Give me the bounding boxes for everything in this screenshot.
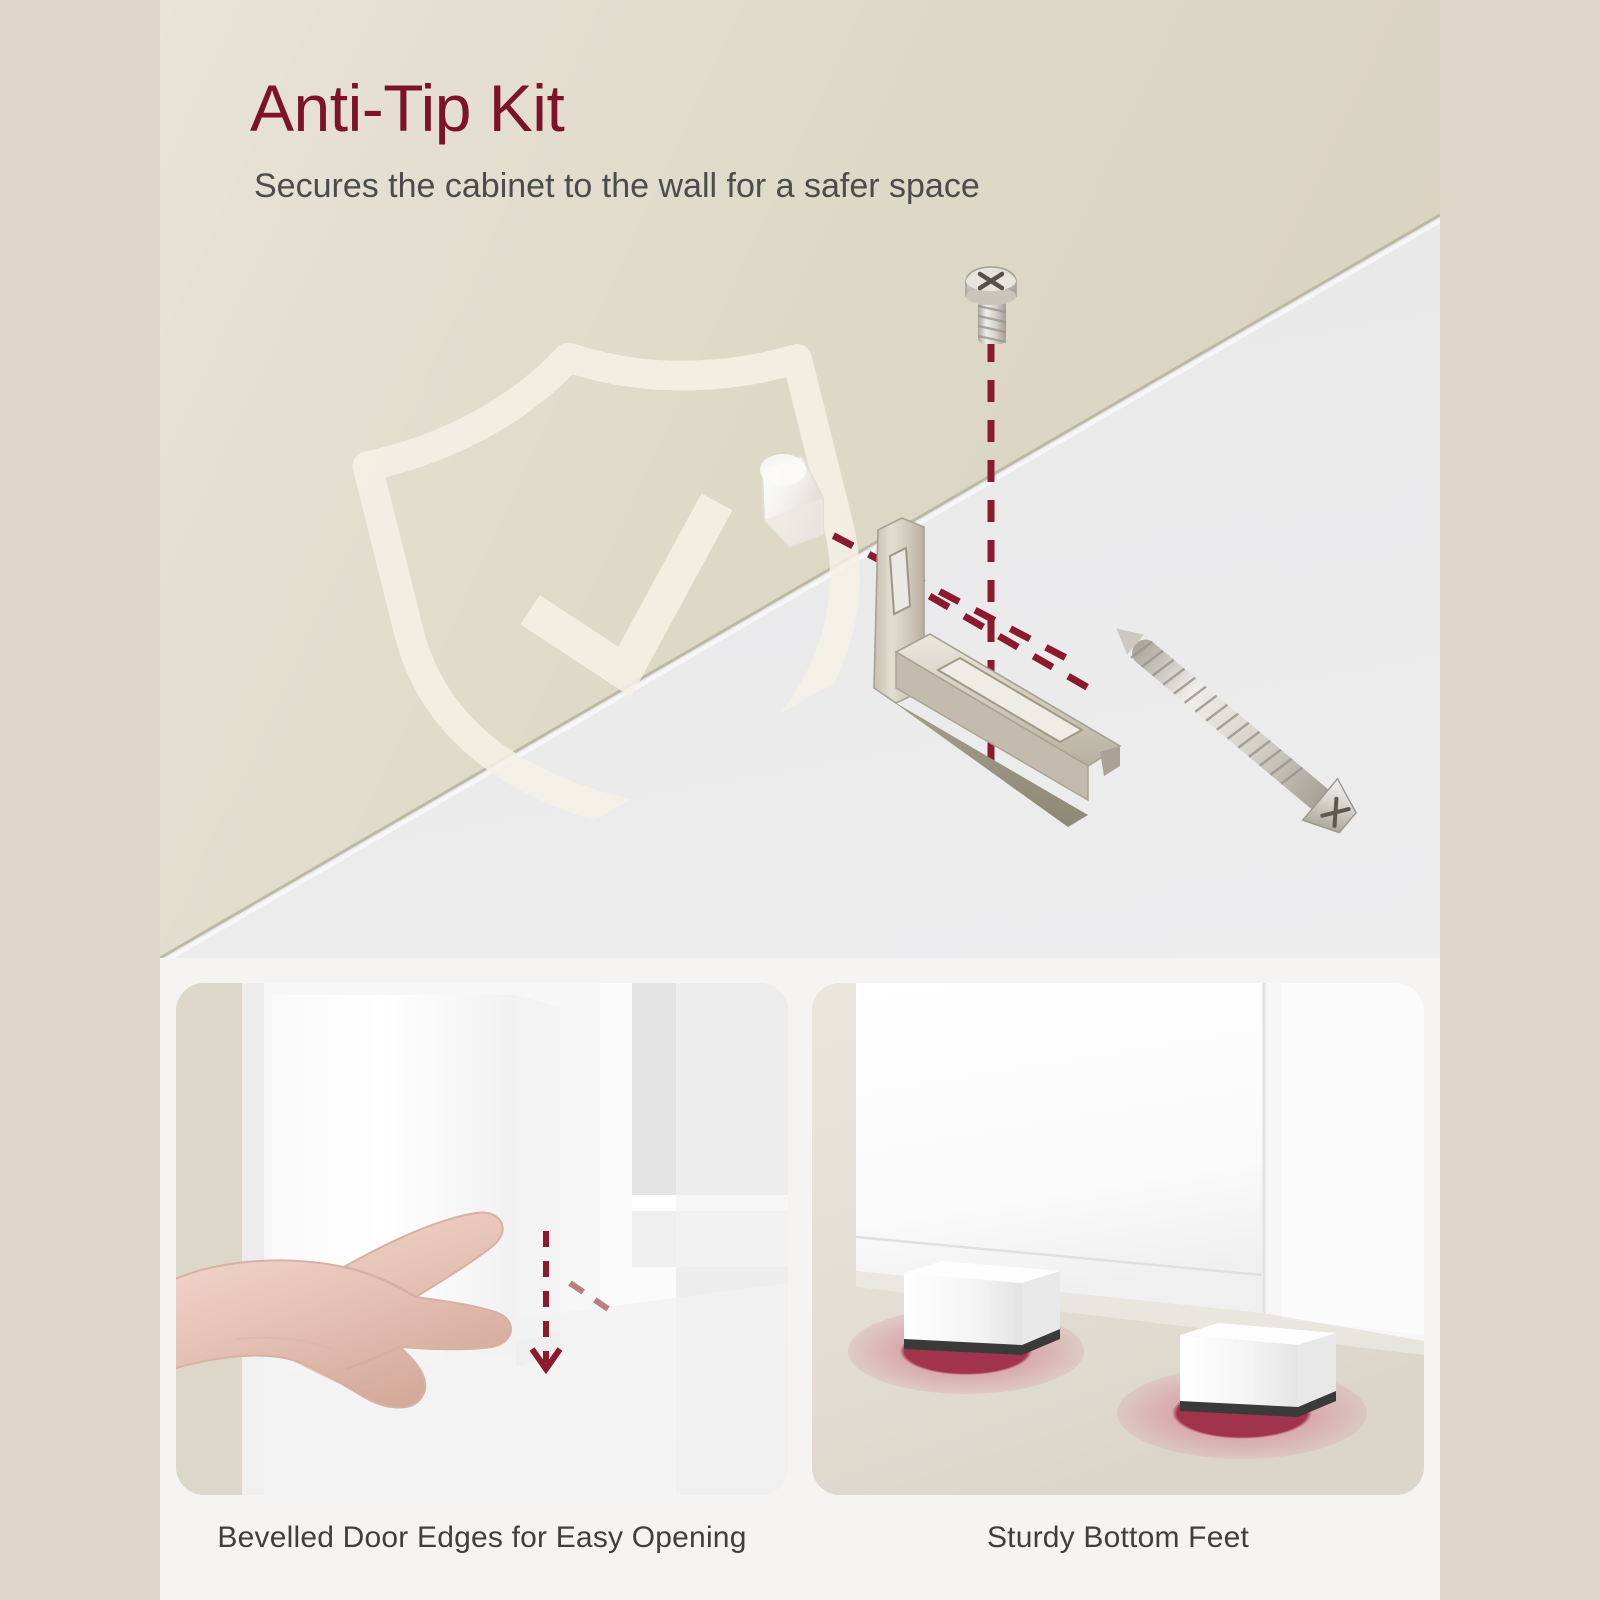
page-subtitle: Secures the cabinet to the wall for a sa… <box>254 167 980 206</box>
feature-panel-bevelled-door <box>176 983 788 1495</box>
page-title: Anti-Tip Kit <box>250 72 980 145</box>
phillips-cross <box>980 274 1002 288</box>
features-section: Bevelled Door Edges for Easy Opening <box>160 958 1440 1600</box>
pan-head-screw <box>966 267 1016 344</box>
feature-caption-bevelled-door: Bevelled Door Edges for Easy Opening <box>176 1521 788 1555</box>
hero-text-block: Anti-Tip Kit Secures the cabinet to the … <box>250 72 980 206</box>
hero-section: Anti-Tip Kit Secures the cabinet to the … <box>160 0 1440 958</box>
cabinet-bottom-feet-on-floor <box>812 983 1424 1495</box>
hand-opening-bevelled-door <box>176 983 788 1495</box>
content-card: Anti-Tip Kit Secures the cabinet to the … <box>160 0 1440 1600</box>
feature-caption-bottom-feet: Sturdy Bottom Feet <box>812 1521 1424 1555</box>
infographic-page: Anti-Tip Kit Secures the cabinet to the … <box>0 0 1600 1600</box>
cabinet-foot <box>904 1261 1060 1355</box>
wall-anchor-plug <box>760 454 823 547</box>
cabinet-foot <box>1180 1323 1336 1417</box>
feature-panel-bottom-feet <box>812 983 1424 1495</box>
